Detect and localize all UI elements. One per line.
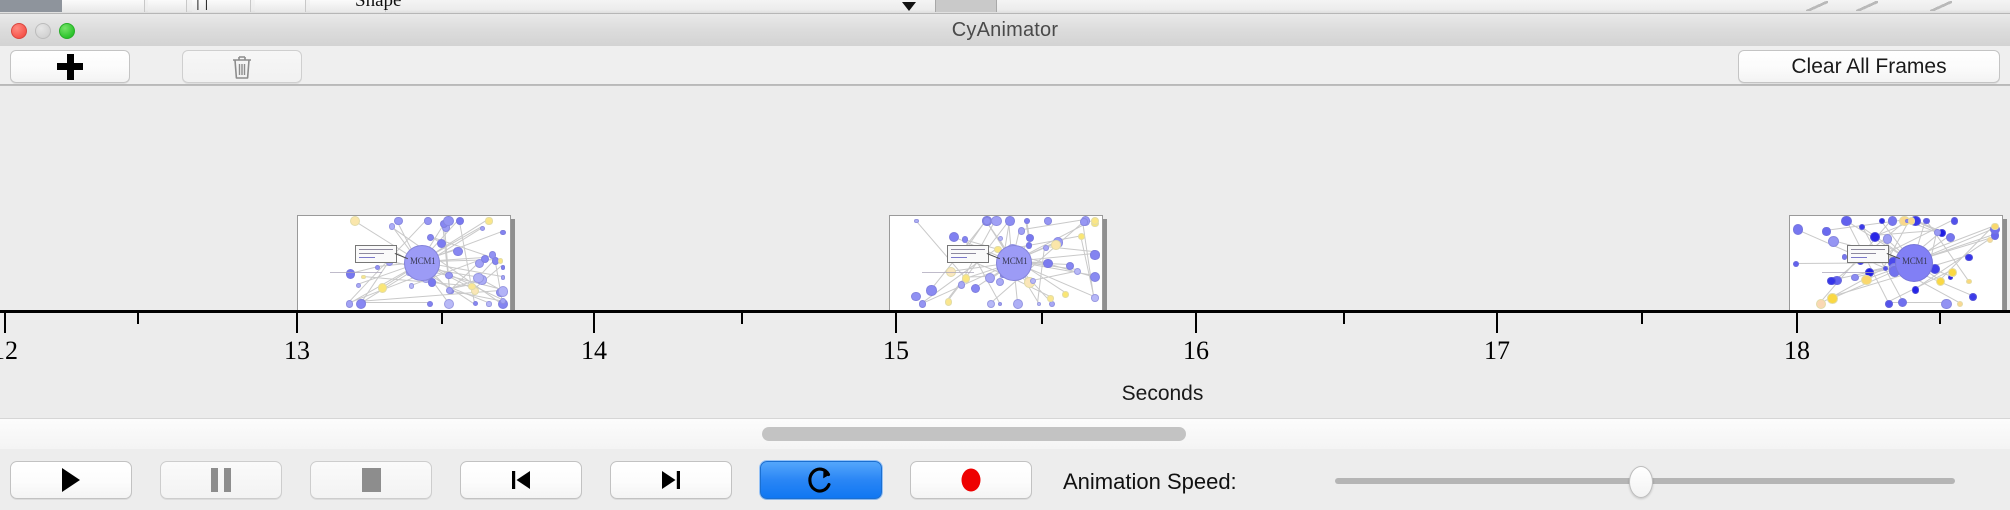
network-thumbnail: MCM1 [1790, 216, 2002, 310]
tick-minor [1641, 313, 1643, 324]
network-node [443, 216, 454, 227]
tick-label: 17 [1484, 336, 1510, 366]
network-node [1047, 295, 1053, 301]
network-node [1923, 218, 1930, 225]
annotation-text-line [359, 257, 375, 258]
network-node [1966, 279, 1971, 284]
stop-icon [362, 468, 381, 492]
network-node [1885, 300, 1893, 308]
network-node [1912, 286, 1920, 294]
clear-all-frames-button[interactable]: Clear All Frames [1738, 50, 2000, 83]
tick-label: 12 [0, 336, 18, 366]
network-node [437, 239, 446, 248]
network-node [501, 265, 506, 270]
tick-major [1796, 313, 1798, 333]
network-node [501, 275, 506, 280]
network-node [919, 300, 926, 307]
network-caption-line [922, 272, 974, 273]
tick-label: 14 [581, 336, 607, 366]
network-node [456, 217, 464, 225]
tick-minor [1939, 313, 1941, 324]
tick-label: 18 [1784, 336, 1810, 366]
network-edge [1888, 302, 1945, 303]
network-node [991, 216, 1002, 227]
tick-major [1496, 313, 1498, 333]
network-node [971, 284, 981, 294]
background-slash [1856, 1, 1878, 11]
trash-icon [231, 54, 253, 80]
network-node [485, 217, 492, 224]
timeline-frame-thumbnail[interactable]: MCM1 [297, 215, 511, 311]
skip-previous-icon [508, 467, 534, 493]
annotation-text-line [359, 253, 384, 254]
tick-minor [1343, 313, 1345, 324]
plus-icon [57, 54, 83, 80]
axis-title: Seconds [1122, 382, 1204, 406]
tick-major [895, 313, 897, 333]
tick-label: 16 [1183, 336, 1209, 366]
animation-speed-slider-thumb[interactable] [1629, 466, 1653, 498]
network-node [498, 258, 504, 264]
tick-major [4, 313, 6, 333]
network-annotation-box [1847, 245, 1889, 263]
tick-minor [741, 313, 743, 324]
network-node [445, 272, 452, 279]
background-tab [255, 0, 306, 12]
background-slash [1930, 1, 1952, 11]
timeline-frames-area[interactable]: MCM1 MCM1 MCM1 [0, 85, 2010, 311]
network-thumbnail: MCM1 [298, 216, 510, 310]
network-node [1066, 262, 1074, 270]
network-node [389, 223, 396, 230]
background-selected-cell [935, 0, 997, 12]
network-node [473, 301, 478, 306]
annotation-text-line [951, 249, 985, 250]
title-bar[interactable]: CyAnimator [0, 14, 2010, 47]
network-node [427, 234, 434, 241]
skip-previous-button[interactable] [460, 461, 582, 499]
network-node [1859, 224, 1865, 230]
network-node [1793, 261, 1799, 267]
network-node [998, 236, 1003, 241]
annotation-text-line [951, 253, 976, 254]
network-node [1026, 234, 1035, 243]
timeline-frame-thumbnail[interactable]: MCM1 [1789, 215, 2003, 311]
network-hub-label: MCM1 [410, 256, 435, 266]
play-icon [62, 468, 80, 492]
record-button[interactable] [910, 461, 1032, 499]
network-node [1934, 229, 1940, 235]
network-node [1908, 217, 1916, 225]
network-node [998, 302, 1003, 307]
network-node [498, 286, 509, 297]
network-node [1841, 216, 1852, 227]
network-node [1044, 217, 1052, 225]
background-tab [62, 0, 145, 12]
network-node [1816, 299, 1826, 309]
network-node [1091, 294, 1099, 302]
network-node [1090, 272, 1100, 282]
network-node [1078, 233, 1085, 240]
delete-frame-button[interactable] [182, 50, 302, 83]
play-button[interactable] [10, 461, 132, 499]
annotation-text-line [951, 257, 967, 258]
network-node [481, 255, 489, 263]
annotation-text-line [1851, 253, 1876, 254]
network-node [356, 283, 361, 288]
network-node [1827, 277, 1836, 286]
network-caption-line [1822, 272, 1874, 273]
network-node [1037, 302, 1042, 307]
background-tab [148, 0, 187, 12]
network-node [1018, 227, 1026, 235]
tick-major [593, 313, 595, 333]
network-annotation-box [947, 245, 989, 263]
network-caption-line [330, 272, 382, 273]
background-window-strip: | | Shape [0, 0, 2010, 14]
network-node [1948, 268, 1957, 277]
network-node [1030, 278, 1036, 284]
network-hub-label: MCM1 [1002, 256, 1027, 266]
network-node [468, 283, 476, 291]
network-node [1946, 233, 1955, 242]
network-node [1822, 227, 1830, 235]
network-node [1879, 218, 1886, 225]
network-node [1026, 242, 1032, 248]
loop-button[interactable] [760, 461, 882, 499]
network-node [453, 247, 462, 256]
pause-button[interactable] [160, 461, 282, 499]
network-node [1793, 224, 1803, 234]
network-node [1951, 217, 1958, 224]
cyanimator-window: | | Shape CyAnimator Clear All Frames [0, 0, 2010, 510]
network-node [949, 232, 959, 242]
network-node [945, 298, 952, 305]
timeline-frame-thumbnail[interactable]: MCM1 [889, 215, 1103, 311]
skip-next-icon [658, 467, 684, 493]
timeline-scrollbar[interactable] [0, 418, 2010, 450]
network-node [1898, 298, 1908, 308]
network-node [1861, 275, 1872, 286]
annotation-text-line [1851, 249, 1885, 250]
network-node [1888, 216, 1898, 226]
network-node [1828, 236, 1839, 247]
network-node [996, 278, 1004, 286]
network-node [1005, 216, 1015, 226]
network-node [444, 299, 454, 309]
network-node [1941, 299, 1952, 310]
network-node [1080, 218, 1087, 225]
network-node [1074, 268, 1082, 276]
background-caret-icon [902, 2, 916, 11]
network-node [1969, 293, 1977, 301]
pause-icon [211, 468, 231, 492]
network-annotation-box [355, 245, 397, 263]
network-node [409, 283, 414, 288]
tick-label: 13 [284, 336, 310, 366]
network-node [1024, 218, 1030, 224]
annotation-text-line [1851, 257, 1867, 258]
network-node [1049, 301, 1055, 307]
network-node [1957, 301, 1963, 307]
background-dark-tab [0, 0, 62, 12]
network-node [1062, 291, 1069, 298]
tick-minor [1041, 313, 1043, 324]
tick-major [296, 313, 298, 333]
tick-major [1195, 313, 1197, 333]
network-node [958, 281, 966, 289]
network-node [424, 217, 431, 224]
network-thumbnail: MCM1 [890, 216, 1102, 310]
record-icon [958, 466, 984, 494]
timeline-ruler[interactable]: 12131415161718 Seconds [0, 310, 2010, 418]
network-hub-label: MCM1 [1902, 256, 1927, 266]
frame-toolbar: Clear All Frames [0, 46, 2010, 85]
network-node [1051, 240, 1060, 249]
playback-control-bar: Animation Speed: [0, 449, 2010, 510]
network-node [1090, 250, 1099, 259]
network-node [356, 299, 366, 309]
background-window-label: Shape [355, 0, 401, 12]
network-node [361, 275, 366, 280]
loop-icon [807, 465, 835, 495]
network-node [486, 301, 491, 306]
network-node [926, 285, 936, 295]
stop-button[interactable] [310, 461, 432, 499]
network-node [983, 217, 990, 224]
add-frame-button[interactable] [10, 50, 130, 83]
network-node [1091, 217, 1099, 225]
axis-line [0, 310, 2010, 313]
annotation-text-line [359, 249, 393, 250]
tick-minor [441, 313, 443, 324]
tick-minor [137, 313, 139, 324]
animation-speed-label: Animation Speed: [1063, 469, 1237, 495]
network-node [1883, 234, 1892, 243]
background-slash [1806, 1, 1828, 11]
network-edge [360, 302, 429, 303]
scrollbar-thumb[interactable] [762, 427, 1186, 441]
network-node [346, 300, 353, 307]
network-node [1013, 299, 1023, 309]
network-node [1827, 293, 1838, 304]
network-node [962, 236, 968, 242]
network-node [1965, 254, 1973, 262]
background-glyph: | | [196, 0, 208, 12]
network-node [378, 283, 387, 292]
network-node [346, 269, 356, 279]
network-node [1936, 277, 1945, 286]
network-node [1043, 245, 1049, 251]
network-node [1851, 274, 1859, 282]
page-title: CyAnimator [0, 14, 2010, 46]
network-node [911, 292, 921, 302]
network-node [480, 226, 486, 232]
network-node [500, 230, 505, 235]
network-node [394, 217, 403, 226]
network-node [427, 301, 433, 307]
skip-next-button[interactable] [610, 461, 732, 499]
tick-label: 15 [883, 336, 909, 366]
network-node [987, 300, 995, 308]
